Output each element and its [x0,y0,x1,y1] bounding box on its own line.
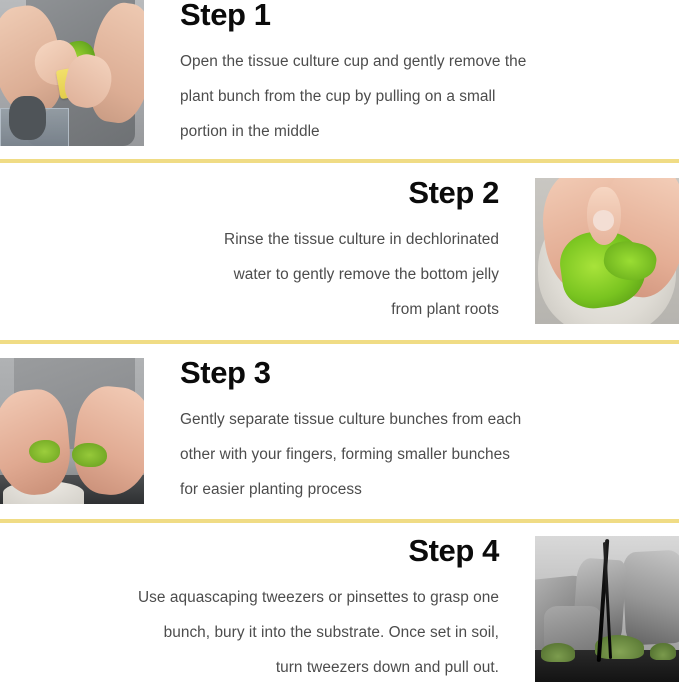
step-1-heading: Step 1 [180,0,619,34]
steps-infographic: Step 1 Open the tissue culture cup and g… [0,0,679,684]
step-1-body-line-1: Open the tissue culture cup and gently r… [180,44,619,79]
step-row-3: Step 3 Gently separate tissue culture bu… [0,358,679,507]
step-3-heading: Step 3 [180,354,619,392]
photo3-plant-bunch-right [72,443,107,468]
step-1-text-block: Step 1 Open the tissue culture cup and g… [144,0,679,149]
step-1-body-line-3: portion in the middle [180,114,619,149]
divider-3 [0,519,679,523]
photo4-rock-right [622,549,679,646]
step-1-photo [0,0,144,146]
step-row-4: Step 4 Use aquascaping tweezers or pinse… [0,536,679,684]
step-2-text-block: Step 2 Rinse the tissue culture in dechl… [0,178,535,327]
step-1-body: Open the tissue culture cup and gently r… [180,44,619,149]
step-4-body-line-3: turn tweezers down and pull out. [44,650,499,684]
step-2-body-line-1: Rinse the tissue culture in dechlorinate… [44,222,499,257]
photo4-plant-center [595,635,644,658]
step-4-body-line-2: bunch, bury it into the substrate. Once … [44,615,499,650]
step-4-heading: Step 4 [44,532,499,570]
step-4-photo [535,536,679,682]
step-3-body-line-1: Gently separate tissue culture bunches f… [180,402,619,437]
photo2-thumbnail [593,210,615,230]
step-4-body: Use aquascaping tweezers or pinsettes to… [44,580,499,684]
step-1-body-line-2: plant bunch from the cup by pulling on a… [180,79,619,114]
step-4-body-line-1: Use aquascaping tweezers or pinsettes to… [44,580,499,615]
step-2-body-line-2: water to gently remove the bottom jelly [44,257,499,292]
step-2-body-line-3: from plant roots [44,292,499,327]
step-3-body-line-3: for easier planting process [180,472,619,507]
divider-2 [0,340,679,344]
step-3-photo [0,358,144,504]
step-3-body: Gently separate tissue culture bunches f… [180,402,619,507]
divider-1 [0,159,679,163]
step-2-body: Rinse the tissue culture in dechlorinate… [44,222,499,327]
step-row-1: Step 1 Open the tissue culture cup and g… [0,0,679,149]
step-2-photo [535,178,679,324]
photo4-plant-right [650,643,676,661]
step-row-2: Step 2 Rinse the tissue culture in dechl… [0,178,679,327]
photo1-tank-object [9,96,46,140]
photo4-plant-left [541,643,576,662]
step-2-heading: Step 2 [44,174,499,212]
photo3-plant-bunch-left [29,440,61,463]
step-3-body-line-2: other with your fingers, forming smaller… [180,437,619,472]
step-3-text-block: Step 3 Gently separate tissue culture bu… [144,358,679,507]
step-4-text-block: Step 4 Use aquascaping tweezers or pinse… [0,536,535,684]
